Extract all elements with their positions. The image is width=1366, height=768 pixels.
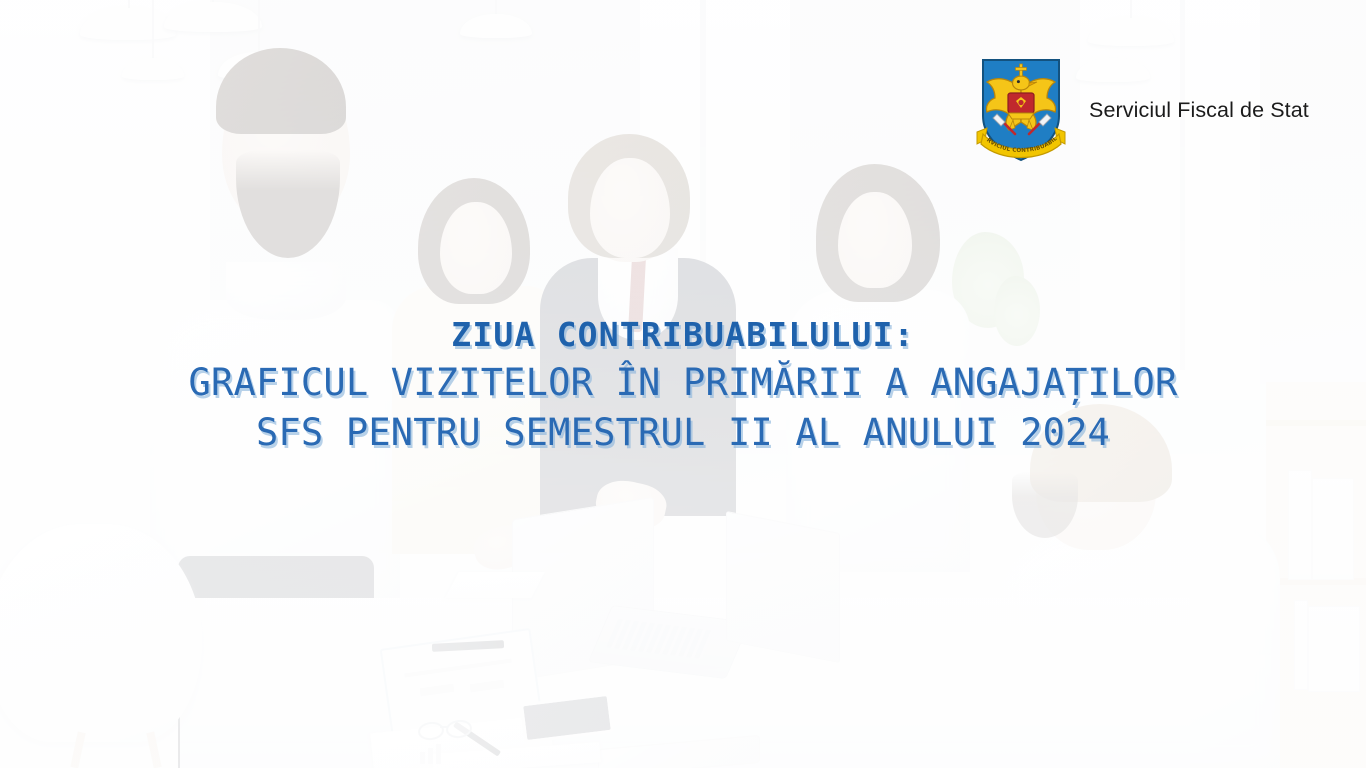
title-line-3: SFS PENTRU SEMESTRUL II AL ANULUI 2024 bbox=[0, 408, 1366, 458]
paper-chart-bar-1 bbox=[420, 752, 425, 764]
person-woman-face bbox=[440, 202, 512, 294]
person-bearded-man-beard bbox=[236, 150, 340, 258]
lamp-cord-3 bbox=[258, 0, 260, 56]
title-line-1: ZIUA CONTRIBUABILULUI: bbox=[0, 312, 1366, 358]
moldova-coat-of-arms-icon: ÎN SERVICIUL CONTRIBUABILULUI bbox=[975, 56, 1067, 164]
shelf-book-2 bbox=[1312, 478, 1354, 580]
title-line-2: GRAFICUL VIZITELOR ÎN PRIMĂRII A ANGAJAȚ… bbox=[0, 358, 1366, 408]
lamp-cord-4 bbox=[152, 0, 154, 62]
shelf-book-3 bbox=[1294, 600, 1308, 690]
paper-sheet-notebook bbox=[445, 572, 545, 598]
person-navy-sweater-face bbox=[590, 158, 670, 258]
paper-chart-bar-2 bbox=[428, 748, 433, 764]
organization-logo: ÎN SERVICIUL CONTRIBUABILULUI Serviciul … bbox=[975, 56, 1309, 164]
office-chair bbox=[0, 524, 202, 742]
eyeglasses-bridge bbox=[440, 726, 448, 728]
chair-leg-right bbox=[146, 732, 161, 768]
presentation-slide: ÎN SERVICIUL CONTRIBUABILULUI Serviciul … bbox=[0, 0, 1366, 768]
person-dark-hair-woman-face bbox=[838, 192, 912, 288]
organization-name-label: Serviciul Fiscal de Stat bbox=[1089, 98, 1309, 123]
pendant-lamp-5 bbox=[460, 14, 532, 38]
paper-chart-bar-3 bbox=[436, 744, 441, 764]
second-screen bbox=[726, 511, 840, 663]
shelf-book-1 bbox=[1288, 470, 1312, 580]
slide-title: ZIUA CONTRIBUABILULUI: GRAFICUL VIZITELO… bbox=[0, 312, 1366, 458]
shelf-book-4 bbox=[1308, 606, 1360, 692]
